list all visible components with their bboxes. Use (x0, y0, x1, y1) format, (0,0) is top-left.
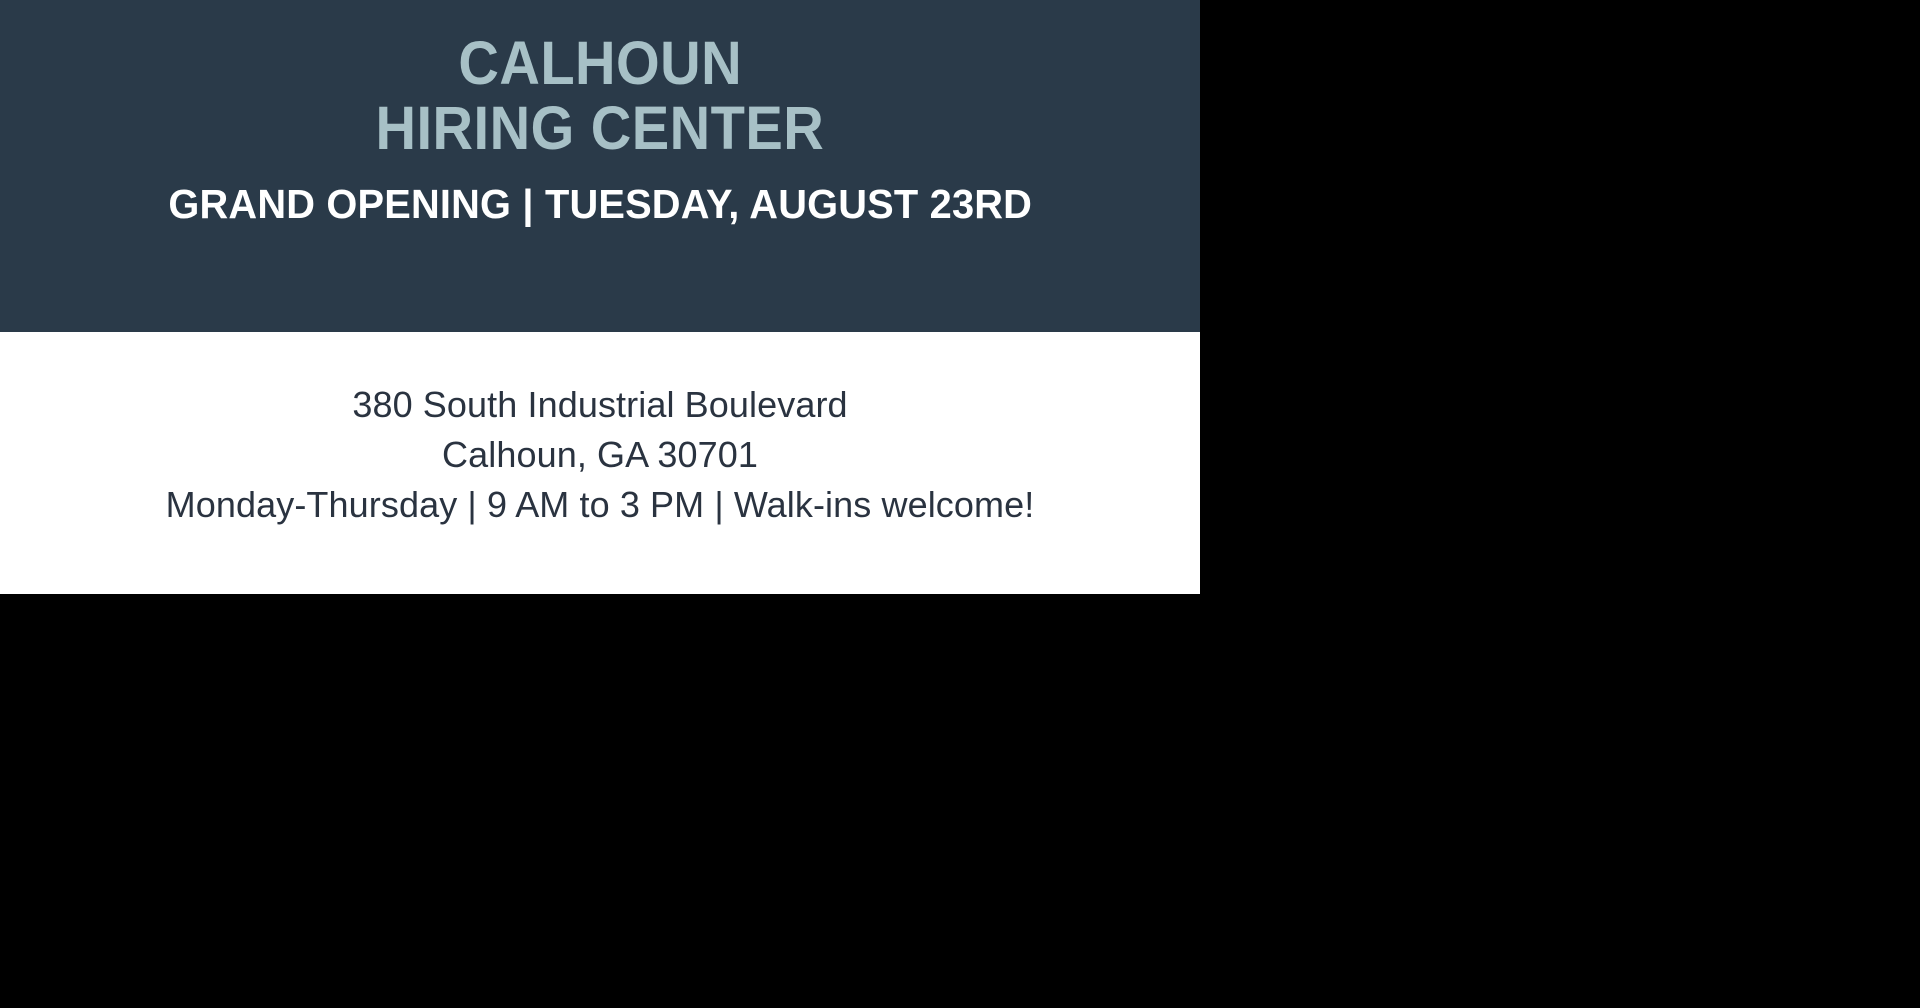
banner-info-block: 380 South Industrial Boulevard Calhoun, … (0, 332, 1200, 594)
address-street-line: 380 South Industrial Boulevard (352, 380, 847, 430)
hiring-center-banner: CALHOUN HIRING CENTER GRAND OPENING | TU… (0, 0, 1200, 594)
hours-and-walkins-line: Monday-Thursday | 9 AM to 3 PM | Walk-in… (166, 480, 1035, 530)
address-city-state-zip-line: Calhoun, GA 30701 (442, 430, 758, 480)
banner-title-line-2: HIRING CENTER (376, 97, 825, 160)
banner-header-block: CALHOUN HIRING CENTER GRAND OPENING | TU… (0, 0, 1200, 332)
page-root: CALHOUN HIRING CENTER GRAND OPENING | TU… (0, 0, 1920, 1008)
banner-title-line-1: CALHOUN (458, 32, 742, 95)
banner-subtitle-grand-opening: GRAND OPENING | TUESDAY, AUGUST 23RD (168, 180, 1032, 228)
